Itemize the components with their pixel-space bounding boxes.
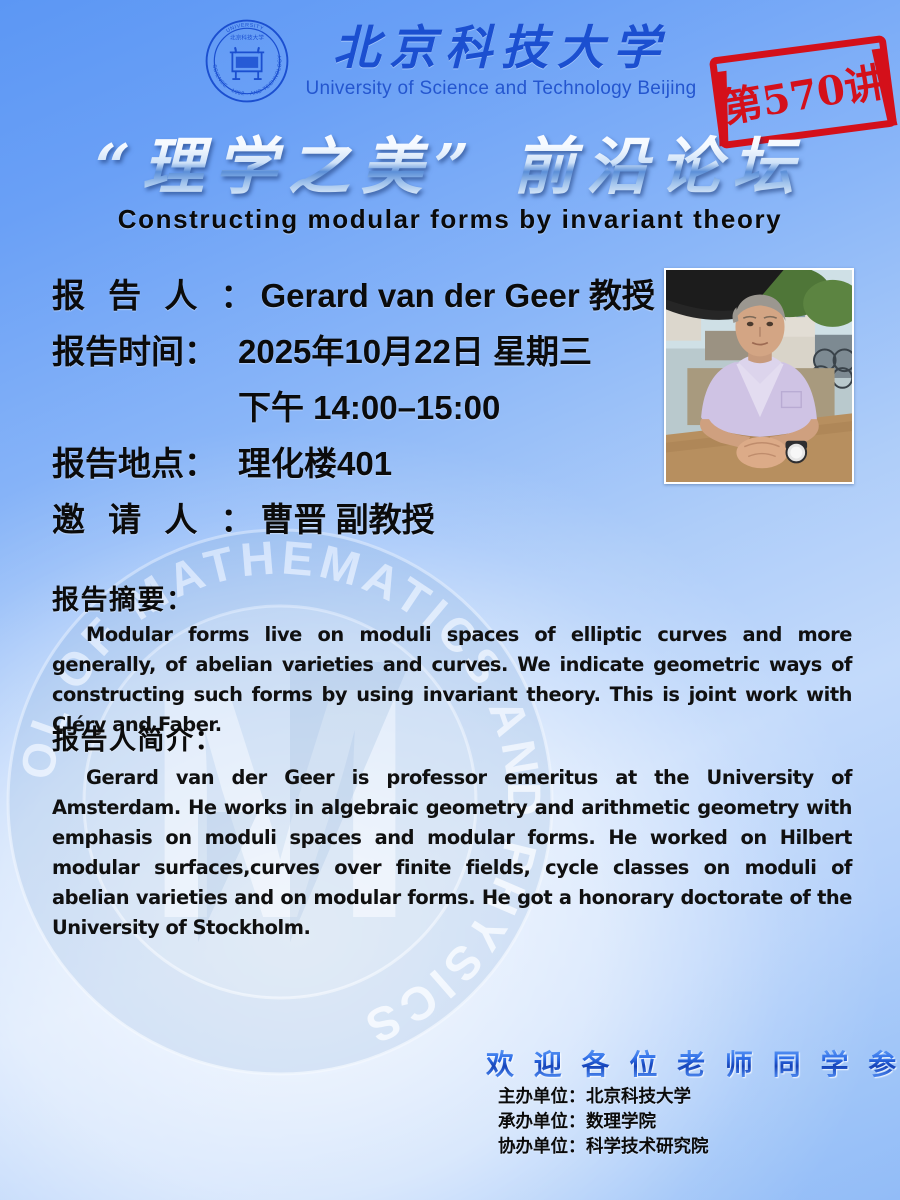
- organizer-row: 协办单位： 科学技术研究院: [498, 1134, 709, 1159]
- organizer-row: 承办单位： 数理学院: [498, 1109, 709, 1134]
- info-label: 邀 请 人 ：: [52, 492, 261, 548]
- info-label: 报 告 人 ：: [52, 268, 261, 324]
- info-value: 2025年10月22日 星期三: [238, 324, 592, 380]
- organizer-list: 主办单位： 北京科技大学 承办单位： 数理学院 协办单位： 科学技术研究院: [498, 1084, 709, 1159]
- info-value: 下午 14:00–15:00: [238, 380, 500, 436]
- info-row: 邀 请 人 ： 曹晋 副教授: [52, 492, 672, 548]
- welcome-message: 欢 迎 各 位 老 师 同 学 参 加 !: [486, 1043, 900, 1083]
- bio-heading: 报告人简介：: [52, 718, 223, 757]
- organizer-value: 数理学院: [586, 1109, 656, 1134]
- poster-canvas: SCHOOL OF MATHEMATICS AND PHYSICS M: [0, 0, 900, 1200]
- info-row: 报告时间： 2025年10月22日 星期三: [52, 324, 672, 380]
- lecture-title-en: Constructing modular forms by invariant …: [0, 204, 900, 235]
- info-label: 报告时间：: [52, 324, 238, 380]
- university-name-en: University of Science and Technology Bei…: [306, 78, 697, 100]
- info-value: Gerard van der Geer 教授: [261, 268, 655, 324]
- info-value: 理化楼401: [238, 436, 392, 492]
- forum-banner-title: “理学之美” 前沿论坛: [0, 116, 900, 206]
- info-row: 报 告 人 ： Gerard van der Geer 教授: [52, 268, 672, 324]
- info-row: 报告地点： 理化楼401: [52, 436, 672, 492]
- bio-body: Gerard van der Geer is professor emeritu…: [52, 763, 852, 943]
- organizer-row: 主办单位： 北京科技大学: [498, 1084, 709, 1109]
- organizer-value: 北京科技大学: [586, 1084, 691, 1109]
- organizer-value: 科学技术研究院: [586, 1134, 709, 1159]
- organizer-label: 承办单位：: [498, 1109, 586, 1134]
- info-row: 下午 14:00–15:00: [52, 380, 672, 436]
- university-seal-ding-icon: OF SCIENCE · 1952 · AND TECHNOLOGY UNIVE…: [204, 18, 290, 104]
- university-name-cn: 北京科技大学: [333, 22, 669, 76]
- lecture-info-block: 报 告 人 ： Gerard van der Geer 教授 报告时间： 202…: [52, 268, 672, 548]
- svg-text:北京科技大学: 北京科技大学: [230, 34, 264, 42]
- info-label: 报告地点：: [52, 436, 238, 492]
- info-value: 曹晋 副教授: [261, 492, 435, 548]
- organizer-label: 协办单位：: [498, 1134, 586, 1159]
- speaker-photo: [664, 268, 854, 484]
- organizer-label: 主办单位：: [498, 1084, 586, 1109]
- abstract-heading: 报告摘要：: [52, 578, 195, 617]
